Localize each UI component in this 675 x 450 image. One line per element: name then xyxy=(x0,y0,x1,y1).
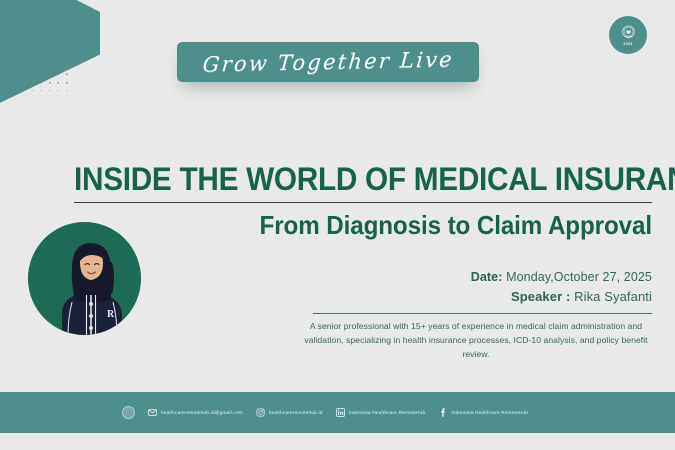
contact-item-email[interactable]: healthcareremotehub.id@gmail.com xyxy=(148,408,243,417)
speaker-bio: A senior professional with 15+ years of … xyxy=(300,320,652,362)
linkedin-icon xyxy=(336,408,345,417)
footer-contact-bar: healthcareremotehub.id@gmail.com healthc… xyxy=(0,392,675,433)
event-details: Date: Monday,October 27, 2025 Speaker : … xyxy=(300,268,652,361)
contact-text-facebook: Indonesia Healthcare RemoteHub xyxy=(451,410,528,415)
heart-shield-logo-icon xyxy=(620,24,637,41)
contact-text-email: healthcareremotehub.id@gmail.com xyxy=(161,410,243,415)
date-value: Monday,October 27, 2025 xyxy=(506,270,652,284)
contact-text-linkedin: Indonesia Healthcare RemoteHub xyxy=(349,410,426,415)
ribbon-label: Grow Together Live xyxy=(201,47,454,76)
headline-block: INSIDE THE WORLD OF MEDICAL INSURANCE Fr… xyxy=(74,163,652,241)
logo-year-label: 2025 xyxy=(623,42,632,46)
instagram-icon xyxy=(256,408,265,417)
footer-contact-list: healthcareremotehub.id@gmail.com healthc… xyxy=(0,406,528,419)
title-divider xyxy=(74,202,652,204)
speaker-photo: R xyxy=(28,222,141,335)
event-series-ribbon: Grow Together Live xyxy=(177,42,479,82)
event-speaker-row: Speaker : Rika Syafanti xyxy=(300,287,652,307)
footer-logo-icon xyxy=(122,406,135,419)
email-icon xyxy=(148,408,157,417)
speaker-label: Speaker : xyxy=(511,289,570,304)
page-title: INSIDE THE WORLD OF MEDICAL INSURANCE xyxy=(74,163,603,197)
brand-logo-badge: 2025 xyxy=(609,16,647,54)
date-label: Date: xyxy=(471,270,503,284)
speaker-value: Rika Syafanti xyxy=(574,289,652,304)
contact-text-instagram: healthcareremotehub.id xyxy=(269,410,323,415)
contact-item-facebook[interactable]: Indonesia Healthcare RemoteHub xyxy=(438,408,528,417)
decorative-dot-grid xyxy=(20,53,72,91)
facebook-icon xyxy=(438,408,447,417)
contact-item-instagram[interactable]: healthcareremotehub.id xyxy=(256,408,323,417)
svg-text:R: R xyxy=(107,309,115,320)
details-divider xyxy=(313,313,652,314)
page-subtitle: From Diagnosis to Claim Approval xyxy=(114,210,652,241)
event-poster: 2025 Grow Together Live INSIDE THE WORLD… xyxy=(0,0,675,450)
event-date-row: Date: Monday,October 27, 2025 xyxy=(300,268,652,287)
contact-item-linkedin[interactable]: Indonesia Healthcare RemoteHub xyxy=(336,408,426,417)
